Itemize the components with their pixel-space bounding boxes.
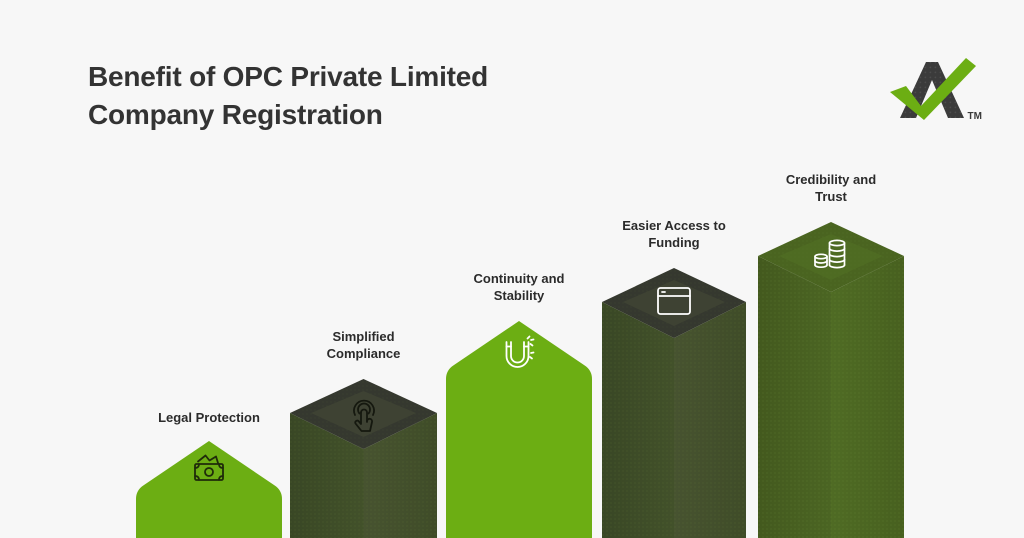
logo-trademark: TM bbox=[968, 111, 982, 122]
bar-easier-access-funding[interactable]: Easier Access to Funding bbox=[602, 266, 746, 538]
page-title: Benefit of OPC Private Limited Company R… bbox=[88, 58, 608, 134]
bar-label-easier-access-funding: Easier Access to Funding bbox=[589, 218, 759, 252]
magnet-icon bbox=[501, 334, 537, 370]
bar-credibility-trust[interactable]: Credibility and Trust bbox=[758, 220, 904, 538]
stacked-coins-icon bbox=[812, 238, 850, 272]
bar-continuity-stability[interactable]: Continuity and Stability bbox=[446, 319, 592, 538]
bar-label-continuity-stability: Continuity and Stability bbox=[434, 271, 604, 305]
logo-a-check-icon bbox=[884, 56, 980, 126]
cash-banknote-icon bbox=[192, 454, 226, 484]
brand-logo[interactable]: TM bbox=[884, 56, 980, 126]
bar-simplified-compliance[interactable]: Simplified Compliance bbox=[290, 377, 437, 538]
bar-label-simplified-compliance: Simplified Compliance bbox=[279, 329, 449, 363]
bar-legal-protection[interactable]: Legal Protection bbox=[136, 439, 282, 538]
browser-window-icon bbox=[656, 285, 692, 317]
tap-finger-icon bbox=[348, 398, 380, 432]
bar-label-legal-protection: Legal Protection bbox=[124, 410, 294, 427]
bar-label-credibility-trust: Credibility and Trust bbox=[746, 172, 916, 206]
benefits-bar-chart: Benefit of OPC Private Limited Company R… bbox=[0, 0, 1024, 538]
